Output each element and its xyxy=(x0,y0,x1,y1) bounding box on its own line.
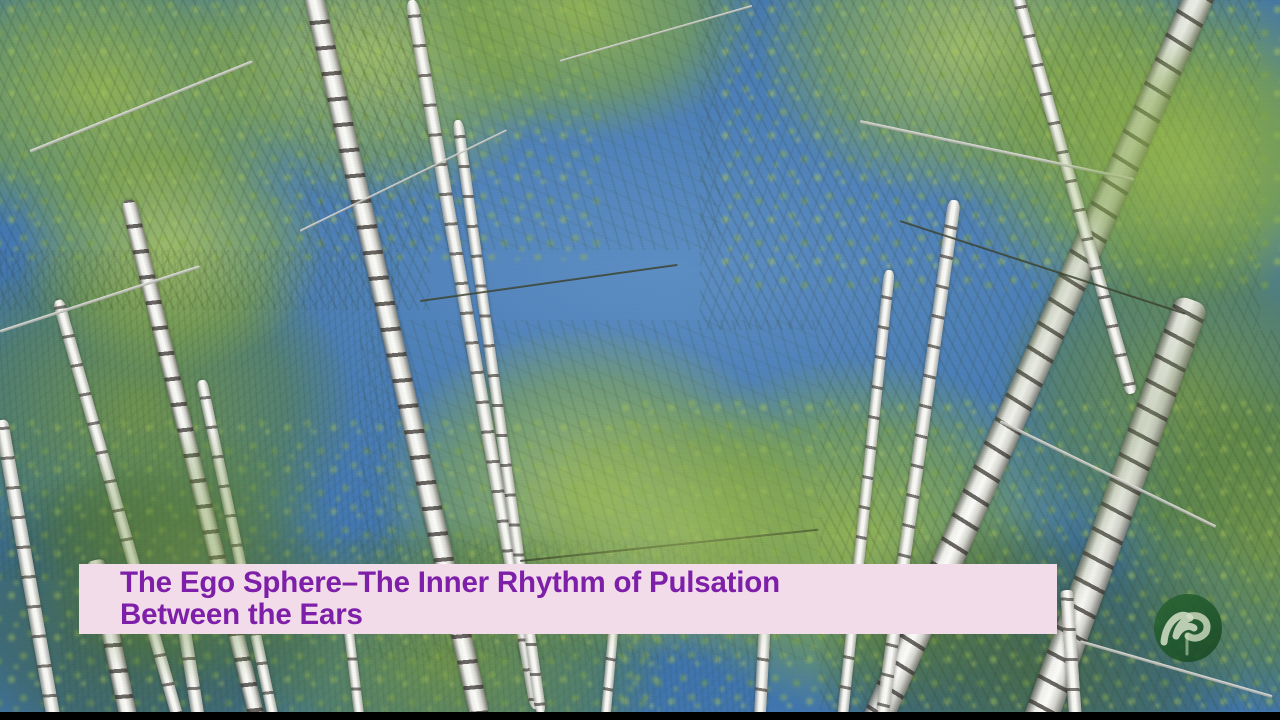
channel-logo-watermark xyxy=(1154,594,1222,662)
letterbox-bar-bottom xyxy=(0,712,1280,720)
title-banner: The Ego Sphere–The Inner Rhythm of Pulsa… xyxy=(79,564,1057,634)
foliage-overlay-left xyxy=(40,430,340,680)
video-frame: The Ego Sphere–The Inner Rhythm of Pulsa… xyxy=(0,0,1280,720)
title-text: The Ego Sphere–The Inner Rhythm of Pulsa… xyxy=(120,567,780,631)
swirl-icon xyxy=(1154,594,1222,662)
